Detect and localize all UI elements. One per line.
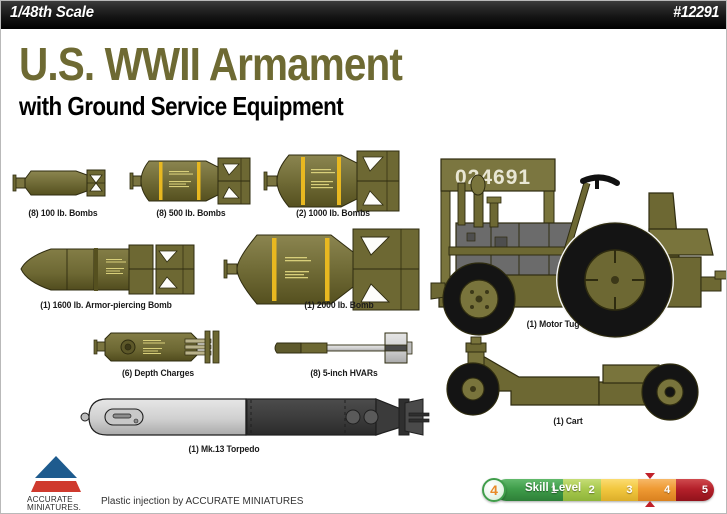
caption-mk13-torpedo: (1) Mk.13 Torpedo <box>124 444 324 454</box>
parts-artwork: 024691 <box>1 137 727 457</box>
skill-segment-2-label: 2 <box>589 484 595 496</box>
skill-segment-4: 4 <box>638 479 676 501</box>
caption-bomb-500lb: (8) 500 lb. Bombs <box>136 208 246 218</box>
skill-level-label: Skill Level <box>525 482 581 494</box>
skill-segment-3: 3 <box>601 479 639 501</box>
skill-segment-4-label: 4 <box>664 484 670 496</box>
page-subtitle: with Ground Service Equipment <box>19 93 343 119</box>
caption-bomb-1000lb: (2) 1000 lb. Bombs <box>270 208 395 218</box>
caption-hvar-rockets: (8) 5-inch HVARs <box>280 368 407 378</box>
artwork-bomb-1000lb <box>264 151 399 211</box>
skill-segment-5-label: 5 <box>702 484 708 496</box>
top-bar: 1/48th Scale #12291 <box>1 1 727 29</box>
caption-cart: (1) Cart <box>516 416 621 426</box>
artwork-bomb-2000lb <box>224 229 419 310</box>
caption-depth-charges: (6) Depth Charges <box>100 368 216 378</box>
accurate-miniatures-logo: ACCURATE MINIATURES. <box>25 456 87 508</box>
caption-motor-tug: (1) Motor Tug <box>496 319 610 329</box>
motor-tug-hull-number: 024691 <box>455 166 531 189</box>
skill-level-value: 4 <box>482 478 506 502</box>
logo-text-line2: MINIATURES. <box>27 502 81 512</box>
kit-number-label: #12291 <box>673 4 719 22</box>
artwork-motor-tug: 024691 <box>431 159 727 338</box>
artwork-cart <box>447 337 698 420</box>
skill-segment-3-label: 3 <box>626 484 632 496</box>
caption-bomb-1600lb-ap: (1) 1600 lb. Armor-piercing Bomb <box>20 300 193 310</box>
logo-trapezoid-icon <box>31 481 81 492</box>
skill-marker-top-icon <box>645 473 655 479</box>
model-kit-box-art: 1/48th Scale #12291 U.S. WWII Armament w… <box>0 0 727 514</box>
skill-segment-5: 5 <box>676 479 714 501</box>
page-title: U.S. WWII Armament <box>19 41 402 87</box>
skill-marker-bottom-icon <box>645 501 655 507</box>
logo-triangle-icon <box>35 456 77 478</box>
artwork-bomb-1600lb-ap <box>21 245 194 294</box>
skill-level-widget: 1 2 3 4 5 Skill Level 4 <box>482 479 714 501</box>
artwork-mk13-torpedo <box>81 399 429 435</box>
caption-bomb-2000lb: (1) 2000 lb. Bomb <box>261 300 417 310</box>
skill-level-bar: 1 2 3 4 5 Skill Level <box>495 479 714 501</box>
scale-label: 1/48th Scale <box>10 4 94 22</box>
artwork-bomb-500lb <box>130 158 250 204</box>
caption-bomb-100lb: (8) 100 lb. Bombs <box>17 208 108 218</box>
artwork-hvar-rockets <box>275 333 412 363</box>
artwork-depth-charges <box>94 331 219 363</box>
artwork-bomb-100lb <box>13 170 105 196</box>
credit-text: Plastic injection by ACCURATE MINIATURES <box>101 496 303 507</box>
